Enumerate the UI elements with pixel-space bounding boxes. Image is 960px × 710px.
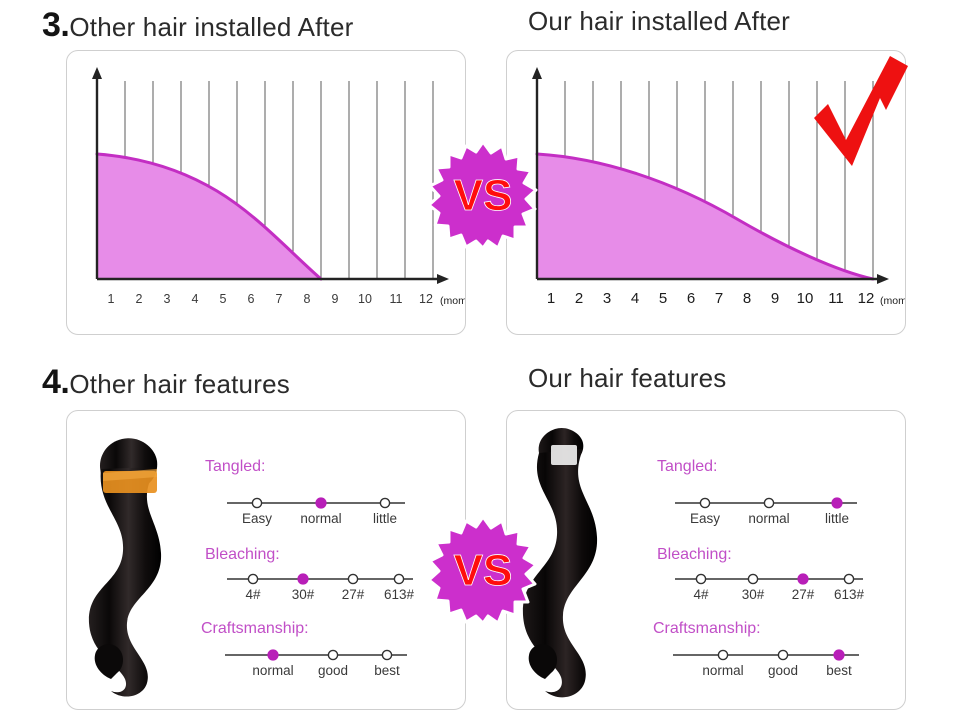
chart-x-axis-arrow: [437, 274, 449, 284]
slider-label: 613#: [834, 587, 865, 602]
x-tick-label: 2: [136, 292, 143, 306]
slider-tick-labels: 4# 30# 27# 613#: [693, 587, 864, 602]
feature-row-craftsmanship: Craftsmanship: normal good best: [201, 620, 407, 678]
slider-point-best-selected[interactable]: [834, 650, 844, 660]
chart-y-axis-arrow: [532, 67, 542, 79]
section-3-heading-left: 3. Other hair installed After: [42, 6, 353, 45]
x-tick-label: 7: [276, 292, 283, 306]
slider-label: 4#: [693, 587, 709, 602]
slider-tick-labels: 4# 30# 27# 613#: [245, 587, 414, 602]
features-card-our-hair: Tangled: Easy normal little Bleaching: 4…: [506, 410, 906, 710]
section-4-number: 4.: [42, 363, 69, 402]
chart-x-tick-labels: 1 2 3 4 5 6 7 8 9 10 11 12: [108, 292, 433, 306]
chart-card-other-hair: 1 2 3 4 5 6 7 8 9 10 11 12 (momth): [66, 50, 466, 335]
x-tick-label: 9: [332, 292, 339, 306]
feature-label: Bleaching:: [657, 546, 732, 563]
x-tick-label: 1: [108, 292, 115, 306]
x-tick-label: 3: [164, 292, 171, 306]
chart-y-axis-arrow: [92, 67, 102, 79]
slider-label: Easy: [690, 511, 720, 526]
red-check-mark-icon: [812, 52, 910, 177]
slider-label: best: [374, 663, 400, 678]
slider-point-613[interactable]: [844, 574, 853, 583]
slider-point-good[interactable]: [328, 650, 337, 659]
section-3-number: 3.: [42, 6, 69, 45]
slider-point-normal-selected[interactable]: [268, 650, 278, 660]
slider-point-little-selected[interactable]: [832, 498, 842, 508]
x-tick-label: 6: [248, 292, 255, 306]
slider-tick-labels: Easy normal little: [690, 511, 849, 526]
slider-point-easy[interactable]: [700, 498, 709, 507]
chart-other-hair-longevity: 1 2 3 4 5 6 7 8 9 10 11 12 (momth): [67, 51, 465, 334]
feature-label: Craftsmanship:: [653, 620, 761, 637]
slider-point-good[interactable]: [778, 650, 787, 659]
features-card-other-hair: Tangled: Easy normal little Bleaching: 4…: [66, 410, 466, 710]
section-3-heading-right: Our hair installed After: [528, 6, 790, 37]
slider-point-little[interactable]: [380, 498, 389, 507]
slider-label: Easy: [242, 511, 272, 526]
x-tick-label: 12: [419, 292, 433, 306]
slider-label: good: [318, 663, 348, 678]
slider-label: 27#: [792, 587, 815, 602]
x-tick-label: 7: [715, 290, 723, 307]
slider-point-normal-selected[interactable]: [316, 498, 326, 508]
slider-point-27-selected[interactable]: [798, 574, 808, 584]
section-4-heading-right: Our hair features: [528, 363, 727, 394]
chart-x-axis-note: (momth): [440, 295, 465, 307]
slider-label: good: [768, 663, 798, 678]
x-tick-label: 9: [771, 290, 779, 307]
slider-point-best[interactable]: [382, 650, 391, 659]
section-4-title-right: Our hair features: [528, 363, 727, 394]
feature-label: Craftsmanship:: [201, 620, 309, 637]
feature-label: Tangled:: [657, 458, 718, 475]
x-tick-label: 5: [220, 292, 227, 306]
slider-point-30-selected[interactable]: [298, 574, 308, 584]
feature-row-tangled: Tangled: Easy normal little: [205, 458, 405, 526]
chart-x-axis-note: (momth): [880, 295, 905, 307]
product-band: [551, 445, 577, 465]
x-tick-label: 1: [547, 290, 555, 307]
slider-label: normal: [748, 511, 789, 526]
chart-x-tick-labels: 1 2 3 4 5 6 7 8 9 10 11 12: [547, 290, 875, 307]
slider-label: little: [825, 511, 849, 526]
slider-label: 27#: [342, 587, 365, 602]
x-tick-label: 12: [858, 290, 875, 307]
x-tick-label: 6: [687, 290, 695, 307]
slider-tick-labels: Easy normal little: [242, 511, 397, 526]
slider-label: little: [373, 511, 397, 526]
features-other-hair: Tangled: Easy normal little Bleaching: 4…: [67, 411, 465, 709]
section-3-title-left: Other hair installed After: [69, 12, 353, 43]
slider-point-4[interactable]: [248, 574, 257, 583]
feature-row-tangled: Tangled: Easy normal little: [657, 458, 857, 526]
section-3-title-right: Our hair installed After: [528, 6, 790, 37]
slider-label: 30#: [742, 587, 765, 602]
x-tick-label: 8: [743, 290, 751, 307]
section-4-title-left: Other hair features: [69, 369, 290, 400]
chart-x-axis-arrow: [877, 274, 889, 284]
x-tick-label: 10: [358, 292, 372, 306]
vs-badge-top: VS: [428, 140, 538, 250]
slider-label: normal: [300, 511, 341, 526]
x-tick-label: 2: [575, 290, 583, 307]
feature-label: Tangled:: [205, 458, 266, 475]
x-tick-label: 8: [304, 292, 311, 306]
check-icon-shape: [814, 56, 908, 166]
x-tick-label: 11: [828, 290, 844, 307]
slider-label: normal: [252, 663, 293, 678]
vs-badge-bottom: VS: [428, 515, 538, 625]
slider-label: best: [826, 663, 852, 678]
slider-tick-labels: normal good best: [702, 663, 852, 678]
slider-label: 613#: [384, 587, 415, 602]
feature-row-craftsmanship: Craftsmanship: normal good best: [653, 620, 859, 678]
slider-label: normal: [702, 663, 743, 678]
slider-label: 30#: [292, 587, 315, 602]
feature-label: Bleaching:: [205, 546, 280, 563]
x-tick-label: 4: [192, 292, 199, 306]
slider-point-27[interactable]: [348, 574, 357, 583]
slider-point-613[interactable]: [394, 574, 403, 583]
feature-row-bleaching: Bleaching: 4# 30# 27# 613#: [657, 546, 865, 602]
slider-point-30[interactable]: [748, 574, 757, 583]
x-tick-label: 4: [631, 290, 639, 307]
slider-point-normal[interactable]: [764, 498, 773, 507]
x-tick-label: 3: [603, 290, 611, 307]
slider-tick-labels: normal good best: [252, 663, 400, 678]
x-tick-label: 5: [659, 290, 667, 307]
features-our-hair: Tangled: Easy normal little Bleaching: 4…: [507, 411, 905, 709]
x-tick-label: 11: [390, 292, 403, 306]
slider-label: 4#: [245, 587, 261, 602]
feature-row-bleaching: Bleaching: 4# 30# 27# 613#: [205, 546, 415, 602]
slider-point-4[interactable]: [696, 574, 705, 583]
vs-label: VS: [454, 171, 513, 220]
slider-point-normal[interactable]: [718, 650, 727, 659]
section-4-heading-left: 4. Other hair features: [42, 363, 290, 402]
slider-point-easy[interactable]: [252, 498, 261, 507]
vs-label: VS: [454, 546, 513, 595]
product-image-hair-bundle: [89, 438, 161, 696]
x-tick-label: 10: [797, 290, 814, 307]
